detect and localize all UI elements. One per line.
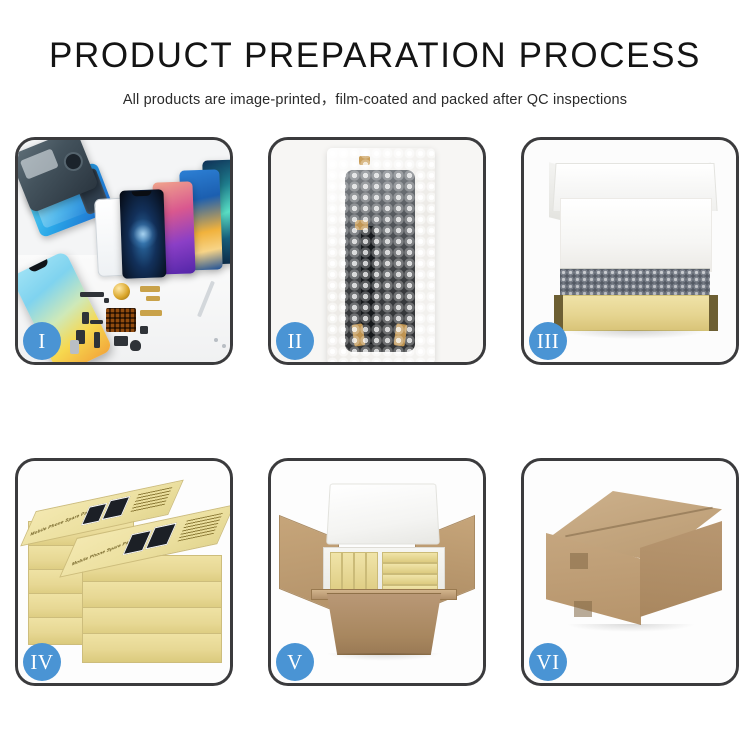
process-step-panel-3[interactable]: III [521,137,739,365]
packed-yellow-box [382,574,438,585]
phone-dark-display [119,189,166,278]
gold-component-icon [113,283,130,300]
page-header: PRODUCT PREPARATION PROCESS All products… [0,0,750,109]
drop-shadow [326,653,441,661]
component-part [82,312,89,324]
component-part [130,340,141,351]
step-badge: III [529,322,567,360]
page-subtitle: All products are image-printed，film-coat… [0,88,750,109]
screw-part [222,344,226,348]
step-badge: II [276,322,314,360]
box-stack: Mobile Phone Spare Parts Mobile Phone Sp… [24,477,230,677]
step-badge: V [276,643,314,681]
drop-shadow [564,330,706,339]
process-step-panel-4[interactable]: Mobile Phone Spare Parts Mobile Phone Sp… [15,458,233,686]
foam-sheet [560,198,712,272]
chip-array-component [106,308,136,332]
component-part [80,292,104,297]
bubble-wrap-bag [327,148,435,362]
box-label-window [145,523,177,550]
packed-yellow-box [382,552,438,563]
yellow-box-front [554,295,718,331]
packed-yellow-box [382,563,438,574]
component-part [140,326,148,334]
screw-part [214,338,218,342]
step-badge: I [23,322,61,360]
component-part [114,336,128,346]
carton-flap-tab [570,553,588,569]
carton-flap-tab [574,601,592,617]
page-title: PRODUCT PREPARATION PROCESS [0,38,750,75]
component-part [104,298,109,303]
carton-front-wall [319,593,449,655]
component-part [146,296,160,301]
component-part [94,332,100,348]
process-steps-grid: I II III [15,137,740,686]
process-step-panel-6[interactable]: VI [521,458,739,686]
component-part [140,286,160,292]
foam-lid [326,484,440,545]
bubble-texture [327,148,435,362]
stacked-box [82,633,222,663]
drop-shadow [566,624,696,632]
box-label-specs [178,513,223,542]
component-part [90,320,103,324]
step-badge: IV [23,643,61,681]
component-part [70,340,79,354]
bubble-padding-layer [560,268,710,297]
box-label-specs [130,487,172,513]
box-label-window [102,496,131,520]
component-part [140,310,162,316]
process-step-panel-2[interactable]: II [268,137,486,365]
process-step-panel-1[interactable]: I [15,137,233,365]
step-badge: VI [529,643,567,681]
process-step-panel-5[interactable]: V [268,458,486,686]
